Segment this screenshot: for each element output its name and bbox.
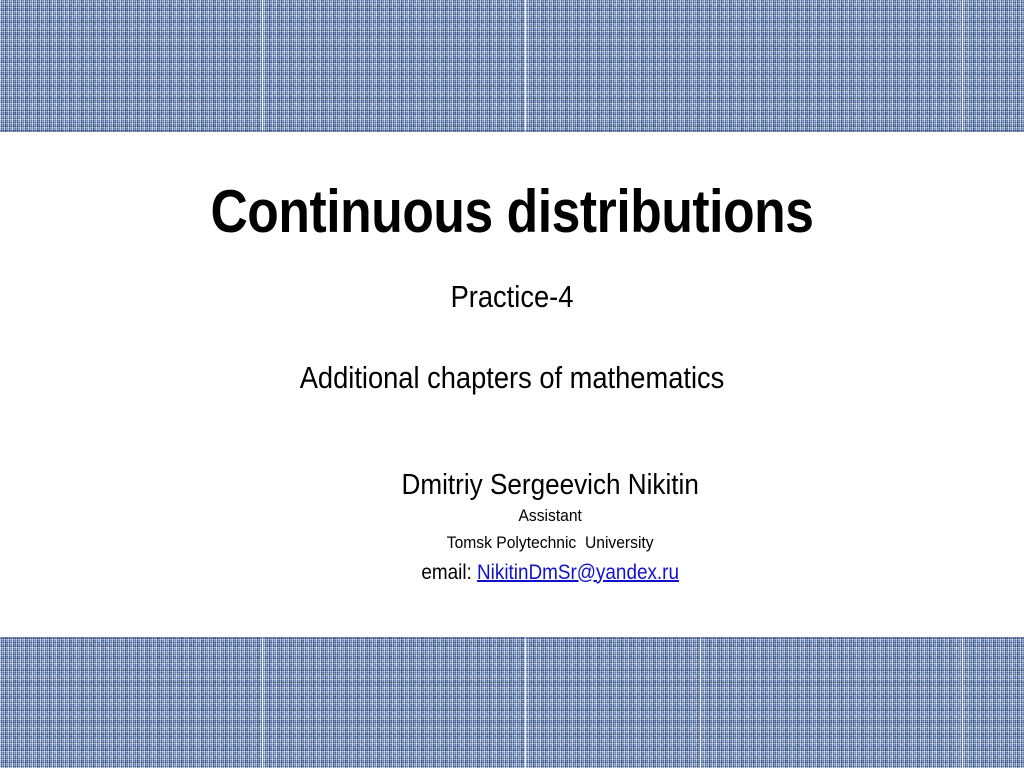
slide-title: Continuous distributions — [72, 180, 953, 243]
author-role: Assistant — [398, 502, 702, 529]
slide-subtitle-course: Additional chapters of mathematics — [61, 361, 962, 395]
fabric-seam-line — [962, 0, 963, 132]
author-name: Dmitriy Sergeevich Nikitin — [401, 468, 698, 502]
bottom-fabric-band — [0, 637, 1024, 768]
slide-content-area: Continuous distributions Practice-4 Addi… — [0, 132, 1024, 637]
top-fabric-band — [0, 0, 1024, 132]
slide-subtitle-practice: Practice-4 — [61, 280, 962, 314]
fabric-seam-line — [525, 0, 526, 132]
author-block: Dmitriy Sergeevich Nikitin Assistant Tom… — [0, 468, 1024, 587]
fabric-weave-texture — [0, 637, 1024, 768]
fabric-seam-line — [262, 0, 263, 132]
presentation-slide: Continuous distributions Practice-4 Addi… — [0, 0, 1024, 768]
author-block-inner: Dmitriy Sergeevich Nikitin Assistant Tom… — [385, 468, 715, 587]
author-email-line: email: NikitinDmSr@yandex.ru — [401, 558, 698, 587]
fabric-seam-line — [962, 637, 963, 768]
email-link[interactable]: NikitinDmSr@yandex.ru — [477, 561, 679, 584]
fabric-seam-line — [700, 637, 701, 768]
fabric-seam-line — [525, 637, 526, 768]
email-label: email: — [421, 561, 477, 584]
author-organization: Tomsk Polytechnic University — [398, 529, 702, 556]
fabric-seam-line — [262, 637, 263, 768]
fabric-weave-texture — [0, 0, 1024, 132]
